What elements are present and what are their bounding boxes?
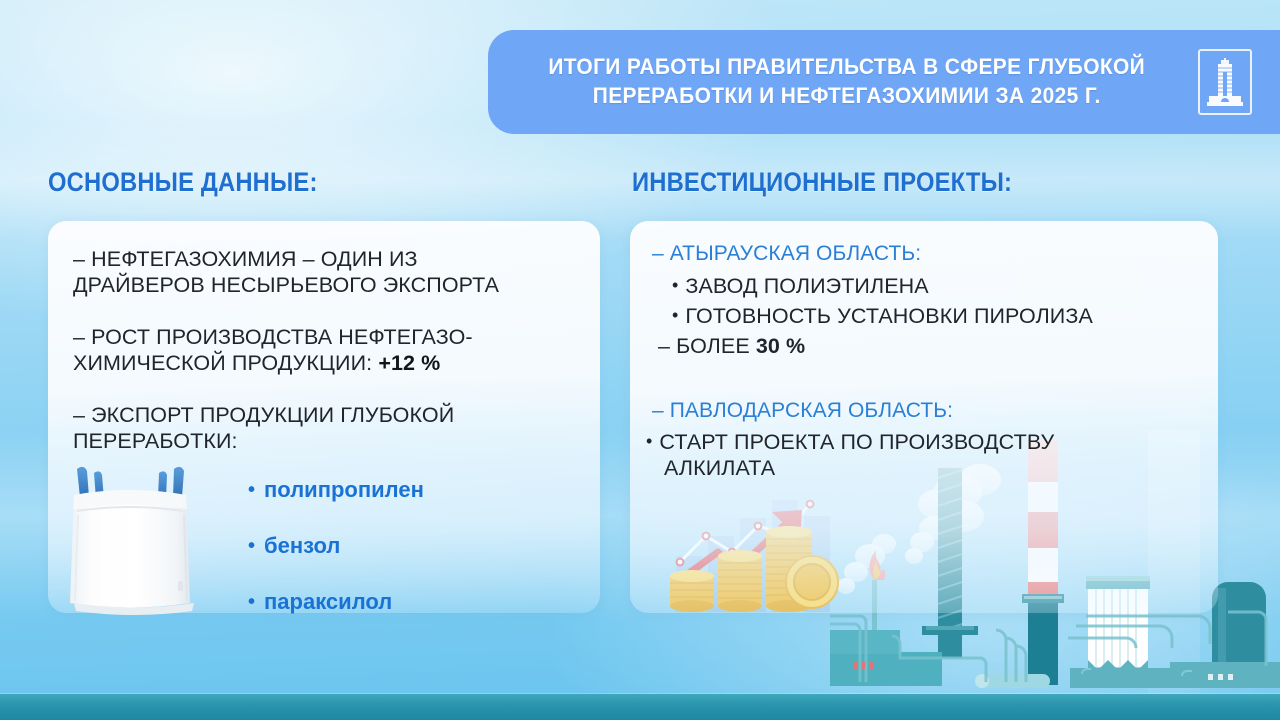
left-bullet-2: – РОСТ ПРОИЗВОДСТВА НЕФТЕГАЗО- ХИМИЧЕСКО… xyxy=(73,325,583,377)
atyrau-project-item: •ГОТОВНОСТЬ УСТАНОВКИ ПИРОЛИЗА xyxy=(672,303,1093,329)
left-section-heading: ОСНОВНЫЕ ДАННЫЕ: xyxy=(48,167,318,198)
region-atyrau-label: – АТЫРАУСКАЯ ОБЛАСТЬ: xyxy=(652,241,921,266)
bullet-dot-icon: • xyxy=(646,431,652,453)
pavlodar-project-line-2: АЛКИЛАТА xyxy=(646,456,775,480)
atyrau-project-item: •ЗАВОД ПОЛИЭТИЛЕНА xyxy=(672,273,929,299)
bullet-dot-icon: • xyxy=(248,592,255,612)
left-bullet-1-line-1: – НЕФТЕГАЗОХИМИЯ – ОДИН ИЗ xyxy=(73,247,418,271)
bullet-dot-icon: • xyxy=(248,536,255,556)
bullet-dot-icon: • xyxy=(672,275,678,297)
bullet-dot-icon: • xyxy=(248,480,255,500)
atyrau-project-text: ЗАВОД ПОЛИЭТИЛЕНА xyxy=(685,274,928,298)
left-bullet-2-line-1: – РОСТ ПРОИЗВОДСТВА НЕФТЕГАЗО- xyxy=(73,325,473,349)
product-item: •полипропилен xyxy=(248,479,424,501)
atyrau-project-text: ГОТОВНОСТЬ УСТАНОВКИ ПИРОЛИЗА xyxy=(685,304,1092,328)
page-title-line-2: ПЕРЕРАБОТКИ И НЕФТЕГАЗОХИМИИ ЗА 2025 Г. xyxy=(544,82,1148,111)
page-title: ИТОГИ РАБОТЫ ПРАВИТЕЛЬСТВА В СФЕРЕ ГЛУБО… xyxy=(513,53,1173,110)
left-bullet-1-line-2: ДРАЙВЕРОВ НЕСЫРЬЕВОГО ЭКСПОРТА xyxy=(73,273,499,297)
readiness-prefix: – БОЛЕЕ xyxy=(658,334,756,358)
left-bullet-3-line-1: – ЭКСПОРТ ПРОДУКЦИИ ГЛУБОКОЙ xyxy=(73,403,454,427)
left-bullet-1: – НЕФТЕГАЗОХИМИЯ – ОДИН ИЗ ДРАЙВЕРОВ НЕС… xyxy=(73,247,583,299)
left-bullet-2-line-2: ХИМИЧЕСКОЙ ПРОДУКЦИИ: xyxy=(73,351,378,375)
ground-strip xyxy=(0,694,1280,720)
product-item: •параксилол xyxy=(248,591,424,613)
product-item: •бензол xyxy=(248,535,424,557)
region-pavlodar-label: – ПАВЛОДАРСКАЯ ОБЛАСТЬ: xyxy=(652,398,953,423)
infographic-canvas: ИТОГИ РАБОТЫ ПРАВИТЕЛЬСТВА В СФЕРЕ ГЛУБО… xyxy=(0,0,1280,720)
export-products-list: •полипропилен •бензол •параксилол xyxy=(248,479,424,647)
header-title-bar: ИТОГИ РАБОТЫ ПРАВИТЕЛЬСТВА В СФЕРЕ ГЛУБО… xyxy=(488,30,1280,134)
right-card: – АТЫРАУСКАЯ ОБЛАСТЬ: •ЗАВОД ПОЛИЭТИЛЕНА… xyxy=(630,221,1218,613)
government-building-icon xyxy=(1198,49,1252,115)
readiness-value: 30 % xyxy=(756,334,805,358)
product-label: полипропилен xyxy=(264,477,424,502)
bulk-bag-icon xyxy=(60,453,200,618)
pavlodar-project-line-1: СТАРТ ПРОЕКТА ПО ПРОИЗВОДСТВУ xyxy=(659,430,1054,454)
left-bullet-3: – ЭКСПОРТ ПРОДУКЦИИ ГЛУБОКОЙ ПЕРЕРАБОТКИ… xyxy=(73,403,583,455)
left-card: – НЕФТЕГАЗОХИМИЯ – ОДИН ИЗ ДРАЙВЕРОВ НЕС… xyxy=(48,221,600,613)
pavlodar-project-item: •СТАРТ ПРОЕКТА ПО ПРОИЗВОДСТВУ АЛКИЛАТА xyxy=(646,429,1116,481)
product-label: параксилол xyxy=(264,589,392,614)
left-bullet-3-line-2: ПЕРЕРАБОТКИ: xyxy=(73,429,238,453)
right-section-heading: ИНВЕСТИЦИОННЫЕ ПРОЕКТЫ: xyxy=(632,167,1012,198)
pyrolysis-readiness: – БОЛЕЕ 30 % xyxy=(658,333,805,359)
product-label: бензол xyxy=(264,533,340,558)
page-title-line-1: ИТОГИ РАБОТЫ ПРАВИТЕЛЬСТВА В СФЕРЕ ГЛУБО… xyxy=(544,53,1148,82)
bullet-dot-icon: • xyxy=(672,305,678,327)
production-growth-value: +12 % xyxy=(378,351,440,375)
